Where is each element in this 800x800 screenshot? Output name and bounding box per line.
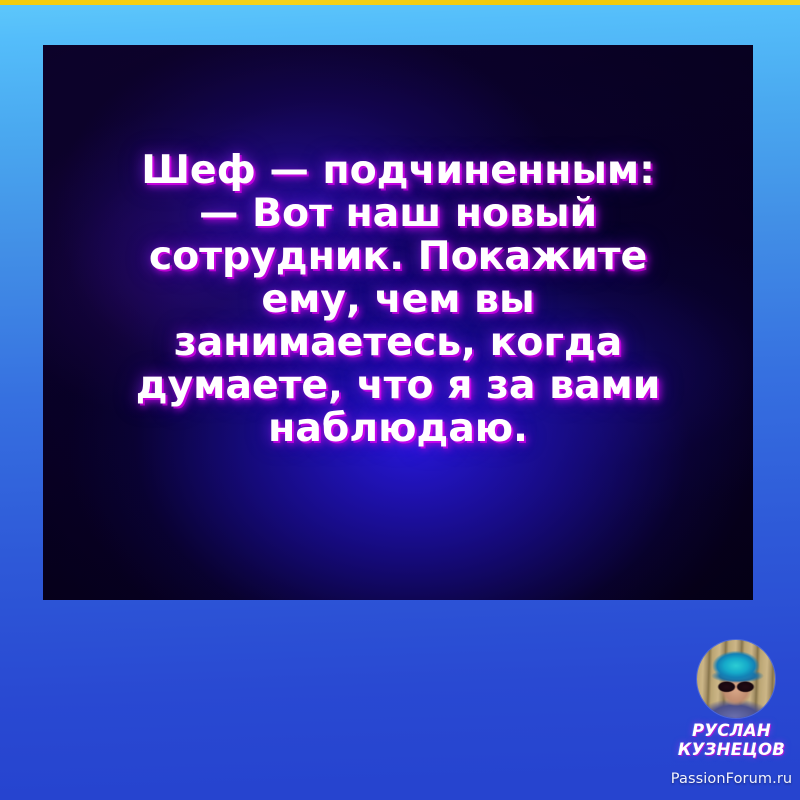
avatar — [697, 640, 775, 718]
top-accent-strip — [0, 0, 800, 5]
quote-text: Шеф — подчиненным: — Вот наш новый сотру… — [43, 149, 753, 450]
quote-panel: Шеф — подчиненным: — Вот наш новый сотру… — [43, 45, 753, 600]
image-canvas: Шеф — подчиненным: — Вот наш новый сотру… — [0, 0, 800, 800]
site-label: PassionForum.ru — [663, 771, 800, 787]
avatar-photo-icon — [697, 640, 775, 718]
watermark: РУСЛАН КУЗНЕЦОВ PassionForum.ru — [663, 636, 800, 800]
author-name: РУСЛАН КУЗНЕЦОВ — [663, 722, 800, 759]
